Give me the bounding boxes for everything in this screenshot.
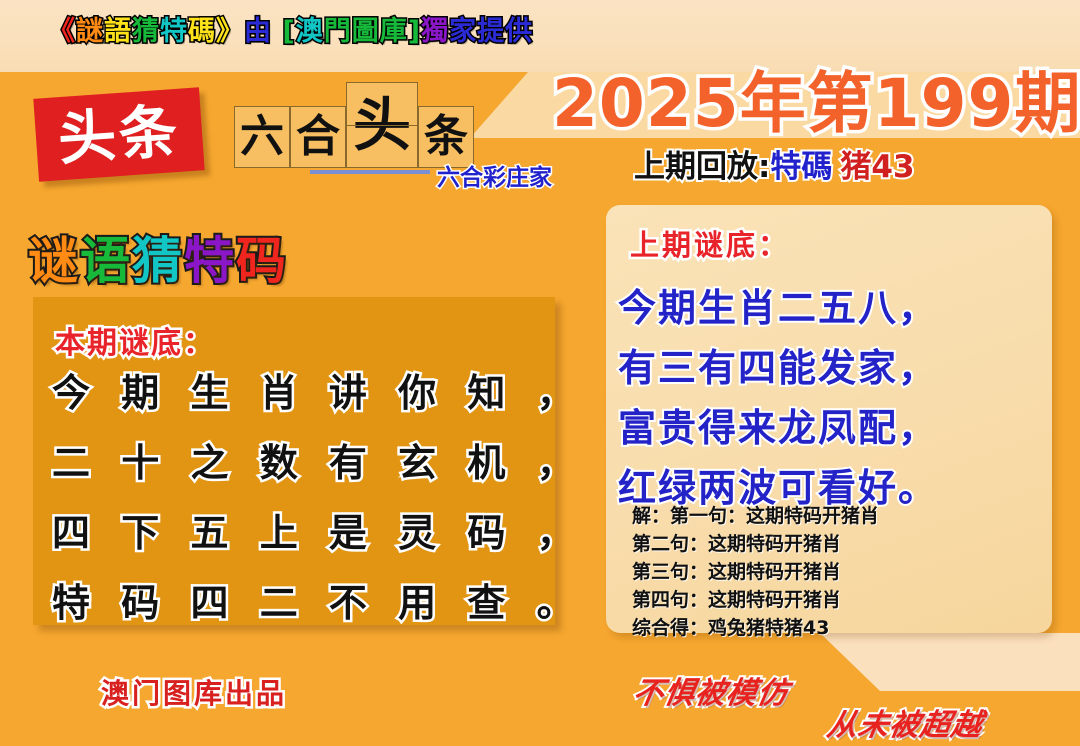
recall-special-label: 特碼 <box>770 149 832 185</box>
glyph-17: 提 <box>477 16 505 47</box>
glyph-14: ] <box>408 16 421 47</box>
glyph-1: 语 <box>80 232 132 290</box>
current-riddle-heading: 本期谜底： <box>55 318 215 362</box>
explanation-line: 第二句：这期特码开猪肖 <box>632 530 1052 558</box>
logo-cell-2: 合 <box>290 106 346 168</box>
glyph-10: 澳 <box>296 16 324 47</box>
riddle-line: 今 期 生 肖 讲 你 知 ， <box>52 358 552 428</box>
glyph-0: 《 <box>48 16 76 47</box>
poster-canvas: 《謎語猜特碼》由 [澳門圖庫]獨家提供 头条 六 合 头 条 六合彩庄家 202… <box>0 0 1080 746</box>
answer-line: 有三有四能发家， <box>618 338 1048 398</box>
glyph-4: 码 <box>236 232 288 290</box>
previous-answer-explanations: 解：第一句：这期特码开猪肖 第二句：这期特码开猪肖 第三句：这期特码开猪肖 第四… <box>632 502 1052 642</box>
glyph-16: 家 <box>449 16 477 47</box>
previous-answer-heading: 上期谜底： <box>630 222 790 264</box>
explanation-line: 综合得：鸡兔猪特猪43 <box>632 614 1052 642</box>
glyph-11: 門 <box>324 16 352 47</box>
recall-result: 猪43 <box>840 149 914 185</box>
glyph-9: [ <box>282 16 295 47</box>
glyph-4: 特 <box>160 16 188 47</box>
glyph-18: 供 <box>505 16 533 47</box>
answer-line: 今期生肖二五八， <box>618 278 1048 338</box>
glyph-2: 語 <box>104 16 132 47</box>
explanation-line: 第四句：这期特码开猪肖 <box>632 586 1052 614</box>
last-draw-recall: 上期回放:特碼猪43 <box>634 152 915 183</box>
glyph-12: 圖 <box>352 16 380 47</box>
footer-slogan-2: 从未被超越 <box>824 700 987 744</box>
glyph-2: 猜 <box>132 232 184 290</box>
glyph-1: 謎 <box>76 16 104 47</box>
logo-cell-3: 头 <box>346 82 418 168</box>
answer-line: 富贵得来龙凤配， <box>618 398 1048 458</box>
headline-badge-label: 头条 <box>56 101 182 167</box>
footer-brand: 澳门图库出品 <box>101 672 287 712</box>
issue-title: 2025年第199期 <box>552 66 1080 142</box>
glyph-13: 庫 <box>380 16 408 47</box>
glyph-0: 谜 <box>28 232 80 290</box>
explanation-line: 第三句：这期特码开猪肖 <box>632 558 1052 586</box>
recall-prefix: 上期回放: <box>634 149 770 185</box>
current-riddle-lines: 今 期 生 肖 讲 你 知 ， 二 十 之 数 有 玄 机 ， 四 下 五 上 … <box>52 358 552 638</box>
logo-cell-1: 六 <box>234 106 290 168</box>
riddle-line: 二 十 之 数 有 玄 机 ， <box>52 428 552 498</box>
logo-character-grid: 六 合 头 条 <box>234 82 474 168</box>
glyph-15: 獨 <box>421 16 449 47</box>
glyph-6: 》 <box>216 16 244 47</box>
footer-slogan-1: 不惧被模仿 <box>630 668 793 712</box>
glyph-3: 特 <box>184 232 236 290</box>
riddle-line: 特 码 四 二 不 用 查 。 <box>52 568 552 638</box>
glyph-8 <box>272 16 282 47</box>
header-tagline: 《謎語猜特碼》由 [澳門圖庫]獨家提供 <box>48 18 533 45</box>
headline-badge: 头条 <box>33 87 204 181</box>
previous-answer-lines: 今期生肖二五八， 有三有四能发家， 富贵得来龙凤配， 红绿两波可看好。 <box>618 278 1048 518</box>
explanation-line: 解：第一句：这期特码开猪肖 <box>632 502 1052 530</box>
riddle-line: 四 下 五 上 是 灵 码 ， <box>52 498 552 568</box>
glyph-5: 碼 <box>188 16 216 47</box>
logo-subtitle: 六合彩庄家 <box>437 158 552 192</box>
logo-divider-rule <box>310 170 430 174</box>
left-section-title: 谜语猜特码 <box>28 236 288 286</box>
glyph-3: 猜 <box>132 16 160 47</box>
glyph-7: 由 <box>244 16 272 47</box>
